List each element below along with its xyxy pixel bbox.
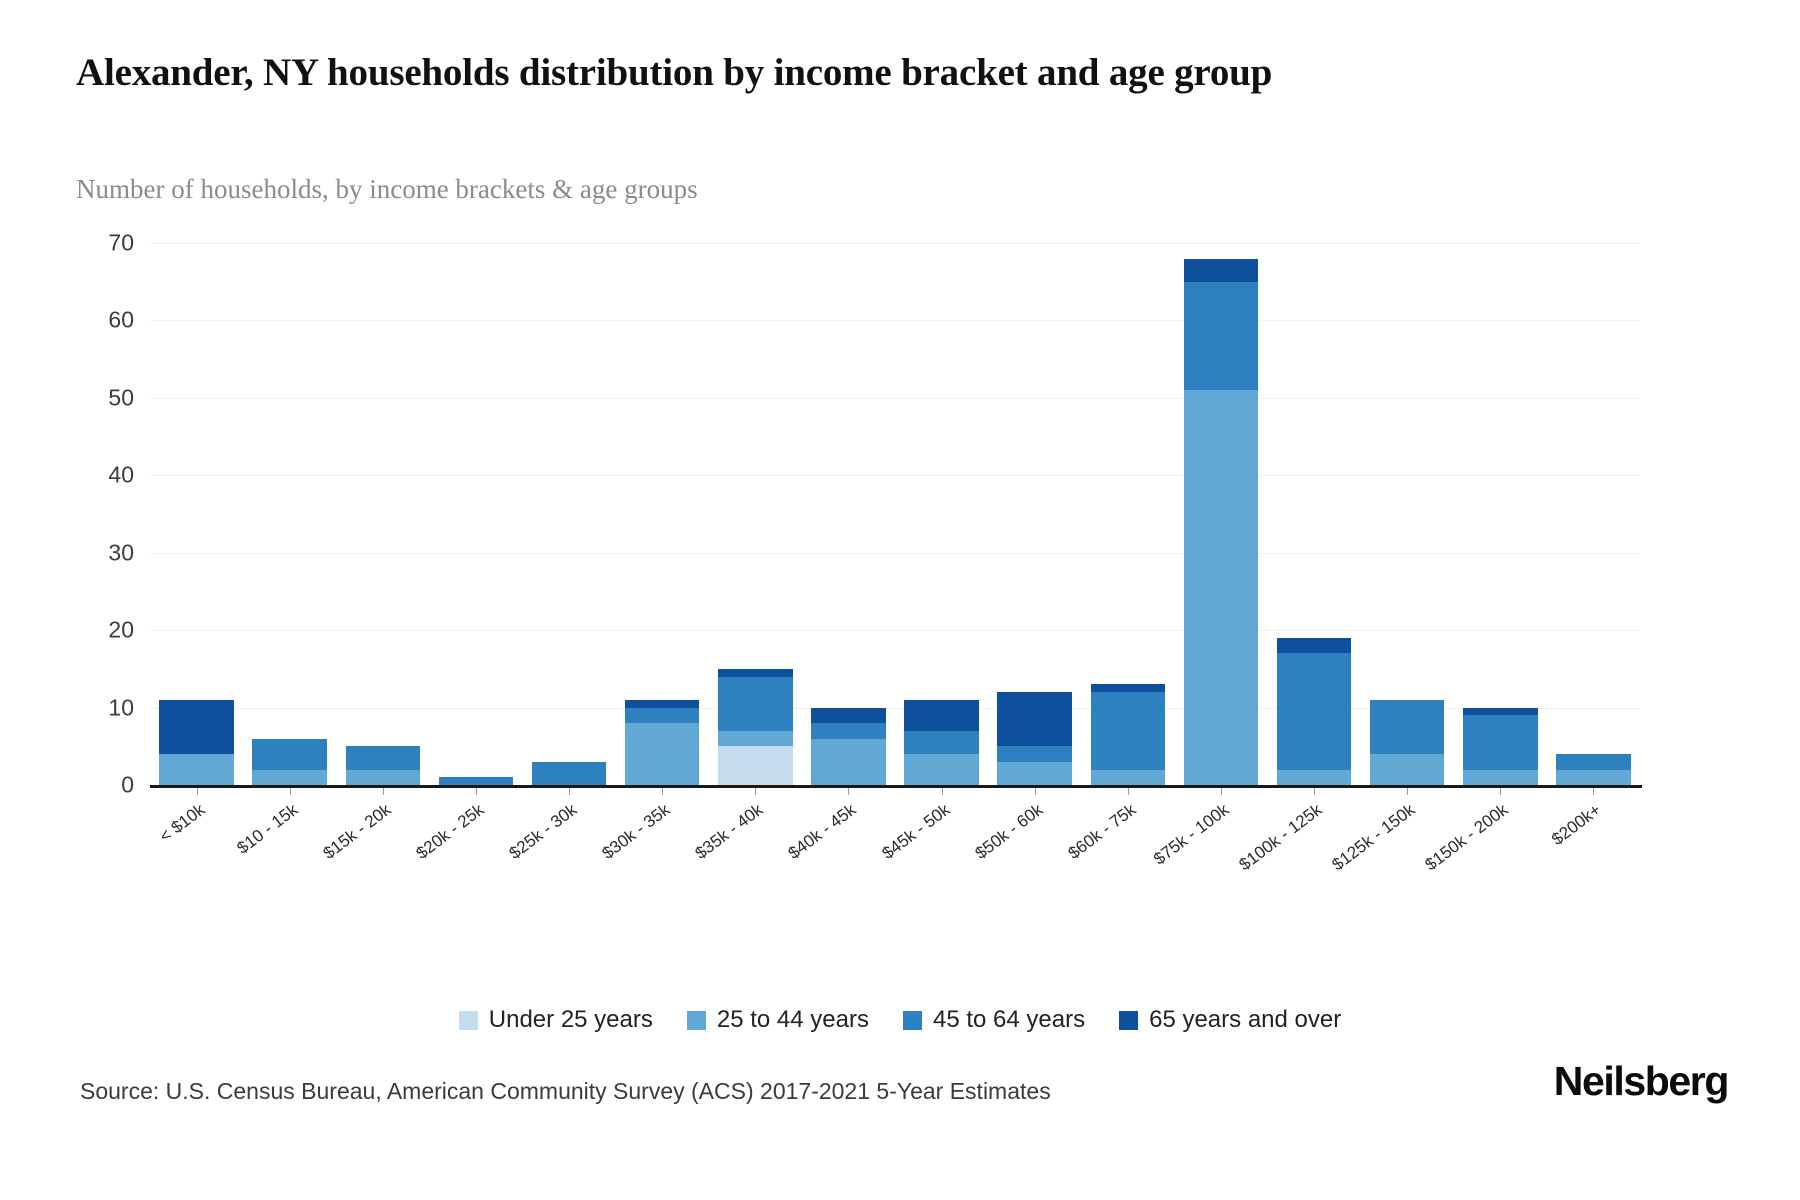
x-axis-tick-label: $125k - 150k: [1247, 800, 1419, 936]
x-axis-tick: [662, 788, 663, 795]
bar-segment[interactable]: [439, 777, 514, 785]
bar-segment[interactable]: [1370, 754, 1445, 785]
bar-segment[interactable]: [1463, 770, 1538, 785]
legend-swatch-icon: [903, 1011, 922, 1030]
bar-segment[interactable]: [718, 677, 793, 731]
bar-segment[interactable]: [904, 700, 979, 731]
bar-stack[interactable]: [718, 243, 793, 785]
x-axis-tick-label: $50k - 60k: [875, 800, 1047, 936]
x-axis-tick: [1407, 788, 1408, 795]
bar-segment[interactable]: [1277, 653, 1352, 769]
legend-label: 45 to 64 years: [933, 1006, 1085, 1034]
x-axis-tick: [290, 788, 291, 795]
bar-segment[interactable]: [346, 746, 421, 769]
bar-segment[interactable]: [625, 708, 700, 723]
y-axis-tick-label: 50: [74, 384, 134, 411]
bar-segment[interactable]: [1277, 638, 1352, 653]
bar-stack[interactable]: [1556, 243, 1631, 785]
bar-segment[interactable]: [1463, 708, 1538, 716]
legend-item[interactable]: 65 years and over: [1119, 1006, 1341, 1034]
x-axis-tick-label: < $10k: [37, 800, 209, 936]
y-axis-tick-label: 10: [74, 694, 134, 721]
legend-item[interactable]: 25 to 44 years: [687, 1006, 869, 1034]
bar-segment[interactable]: [811, 739, 886, 785]
x-axis-tick: [1314, 788, 1315, 795]
bar-stack[interactable]: [159, 243, 234, 785]
bar-stack[interactable]: [811, 243, 886, 785]
bar-segment[interactable]: [1091, 770, 1166, 785]
bar-stack[interactable]: [625, 243, 700, 785]
bar-segment[interactable]: [1556, 770, 1631, 785]
x-axis-tick: [848, 788, 849, 795]
x-axis-tick-label: $30k - 35k: [502, 800, 674, 936]
bar-segment[interactable]: [904, 731, 979, 754]
x-axis-tick-label: $20k - 25k: [316, 800, 488, 936]
bar-stack[interactable]: [1370, 243, 1445, 785]
y-axis-tick-label: 70: [74, 230, 134, 257]
chart-legend: Under 25 years25 to 44 years45 to 64 yea…: [0, 1006, 1800, 1034]
chart-title: Alexander, NY households distribution by…: [76, 48, 1636, 98]
x-axis-tick: [1500, 788, 1501, 795]
x-axis-tick-label: $10 - 15k: [130, 800, 302, 936]
bar-segment[interactable]: [904, 754, 979, 785]
bar-stack[interactable]: [1184, 243, 1259, 785]
x-axis-tick-label: $35k - 40k: [596, 800, 768, 936]
legend-swatch-icon: [687, 1011, 706, 1030]
bar-segment[interactable]: [346, 770, 421, 785]
legend-item[interactable]: Under 25 years: [459, 1006, 653, 1034]
bar-segment[interactable]: [997, 762, 1072, 785]
x-axis-tick: [569, 788, 570, 795]
legend-label: 25 to 44 years: [717, 1006, 869, 1034]
legend-swatch-icon: [1119, 1011, 1138, 1030]
bar-segment[interactable]: [1463, 715, 1538, 769]
bar-segment[interactable]: [1184, 282, 1259, 390]
bar-segment[interactable]: [811, 708, 886, 723]
x-axis-tick: [1593, 788, 1594, 795]
bar-segment[interactable]: [811, 723, 886, 738]
legend-label: Under 25 years: [489, 1006, 653, 1034]
legend-swatch-icon: [459, 1011, 478, 1030]
y-axis-tick-label: 20: [74, 617, 134, 644]
x-axis-tick: [1128, 788, 1129, 795]
plot-area: [150, 243, 1640, 785]
bar-segment[interactable]: [997, 746, 1072, 761]
x-axis-tick-label: $100k - 125k: [1154, 800, 1326, 936]
bar-segment[interactable]: [1277, 770, 1352, 785]
bar-segment[interactable]: [1091, 692, 1166, 769]
bar-segment[interactable]: [1184, 390, 1259, 785]
bar-stack[interactable]: [1091, 243, 1166, 785]
x-axis-tick-label: $150k - 200k: [1341, 800, 1513, 936]
x-axis-tick: [476, 788, 477, 795]
x-axis-tick: [1035, 788, 1036, 795]
chart-subtitle: Number of households, by income brackets…: [76, 172, 1476, 206]
bar-segment[interactable]: [718, 746, 793, 785]
x-axis-tick: [383, 788, 384, 795]
bar-segment[interactable]: [997, 692, 1072, 746]
bar-stack[interactable]: [439, 243, 514, 785]
bar-stack[interactable]: [532, 243, 607, 785]
bar-segment[interactable]: [252, 739, 327, 770]
x-axis-tick: [942, 788, 943, 795]
y-axis-tick-label: 60: [74, 307, 134, 334]
y-axis-tick-label: 0: [74, 772, 134, 799]
bar-segment[interactable]: [718, 669, 793, 677]
x-axis-tick-label: $60k - 75k: [968, 800, 1140, 936]
legend-label: 65 years and over: [1149, 1006, 1341, 1034]
bar-segment[interactable]: [718, 731, 793, 746]
legend-item[interactable]: 45 to 64 years: [903, 1006, 1085, 1034]
bar-stack[interactable]: [997, 243, 1072, 785]
bar-segment[interactable]: [625, 700, 700, 708]
bar-segment[interactable]: [159, 754, 234, 785]
x-axis-tick: [755, 788, 756, 795]
x-axis-line: [150, 785, 1642, 788]
x-axis-tick-label: $75k - 100k: [1061, 800, 1233, 936]
brand-logo: Neilsberg: [1554, 1058, 1728, 1105]
bar-stack[interactable]: [252, 243, 327, 785]
bar-segment[interactable]: [532, 762, 607, 785]
y-axis-tick-label: 40: [74, 462, 134, 489]
x-axis-tick-label: $200k+: [1434, 800, 1606, 936]
bar-segment[interactable]: [1091, 684, 1166, 692]
x-axis-tick-label: $25k - 30k: [409, 800, 581, 936]
bar-segment[interactable]: [1556, 754, 1631, 769]
source-note: Source: U.S. Census Bureau, American Com…: [80, 1078, 1051, 1105]
bar-segment[interactable]: [1184, 259, 1259, 282]
x-axis-tick-label: $40k - 45k: [689, 800, 861, 936]
bar-segment[interactable]: [1370, 700, 1445, 754]
y-axis-tick-label: 30: [74, 539, 134, 566]
x-axis-tick: [197, 788, 198, 795]
bar-segment[interactable]: [252, 770, 327, 785]
bar-segment[interactable]: [159, 700, 234, 754]
x-axis-tick: [1221, 788, 1222, 795]
bar-segment[interactable]: [625, 723, 700, 785]
bar-stack[interactable]: [346, 243, 421, 785]
bar-stack[interactable]: [904, 243, 979, 785]
bar-stack[interactable]: [1463, 243, 1538, 785]
x-axis-tick-label: $15k - 20k: [223, 800, 395, 936]
x-axis-tick-label: $45k - 50k: [782, 800, 954, 936]
bar-stack[interactable]: [1277, 243, 1352, 785]
